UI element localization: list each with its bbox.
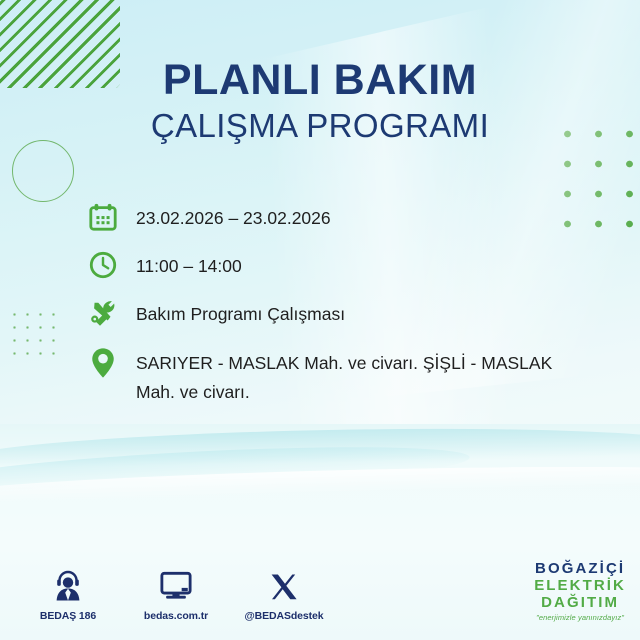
contact-phone[interactable]: BEDAŞ 186 xyxy=(26,567,110,624)
call-center-agent-icon xyxy=(26,567,110,601)
dot-grid-left-decoration xyxy=(8,308,60,360)
wave-line-decoration xyxy=(0,460,640,510)
title-main: PLANLI BAKIM xyxy=(0,58,640,103)
brand-line-dagitim: DAĞITIM xyxy=(534,595,626,612)
page-title: PLANLI BAKIM ÇALIŞMA PROGRAMI xyxy=(0,58,640,146)
contact-channels: BEDAŞ 186 bedas.com.tr xyxy=(26,567,326,624)
detail-text-worktype: Bakım Programı Çalışması xyxy=(136,296,345,328)
detail-text-date: 23.02.2026 – 23.02.2026 xyxy=(136,200,331,232)
x-twitter-icon xyxy=(242,567,326,601)
detail-row-date: 23.02.2026 – 23.02.2026 xyxy=(86,200,556,234)
contact-x-label: @BEDASdestek xyxy=(244,610,323,622)
detail-row-location: SARIYER - MASLAK Mah. ve civarı. ŞİŞLİ -… xyxy=(86,344,556,407)
planned-maintenance-poster: PLANLI BAKIM ÇALIŞMA PROGRAMI 23.02.2026… xyxy=(0,0,640,640)
monitor-icon xyxy=(134,567,218,601)
detail-text-location: SARIYER - MASLAK Mah. ve civarı. ŞİŞLİ -… xyxy=(136,344,556,407)
maintenance-details: 23.02.2026 – 23.02.2026 11:00 – 14:00 xyxy=(86,200,556,407)
tools-icon xyxy=(86,296,120,330)
brand-line-bogazici: BOĞAZİÇİ xyxy=(534,561,626,578)
wave-line-decoration xyxy=(0,423,640,483)
contact-x-twitter[interactable]: @BEDASdestek xyxy=(242,567,326,624)
brand-line-elektrik: ELEKTRİK xyxy=(534,578,626,595)
detail-row-worktype: Bakım Programı Çalışması xyxy=(86,296,556,330)
brand-logo: BOĞAZİÇİ ELEKTRİK DAĞITIM "enerjimizle y… xyxy=(534,561,626,622)
footer: BEDAŞ 186 bedas.com.tr xyxy=(0,544,640,640)
detail-text-time: 11:00 – 14:00 xyxy=(136,248,242,280)
detail-row-time: 11:00 – 14:00 xyxy=(86,248,556,282)
contact-website[interactable]: bedas.com.tr xyxy=(134,567,218,624)
circle-outline-decoration xyxy=(12,140,74,202)
contact-phone-label: BEDAŞ 186 xyxy=(40,610,96,622)
clock-icon xyxy=(86,248,120,282)
wave-line-decoration xyxy=(0,437,471,506)
title-subtitle: ÇALIŞMA PROGRAMI xyxy=(0,105,640,146)
location-pin-icon xyxy=(86,346,120,380)
contact-website-label: bedas.com.tr xyxy=(144,610,208,622)
brand-tagline: "enerjimizle yanınızdayız" xyxy=(534,614,626,622)
calendar-icon xyxy=(86,200,120,234)
